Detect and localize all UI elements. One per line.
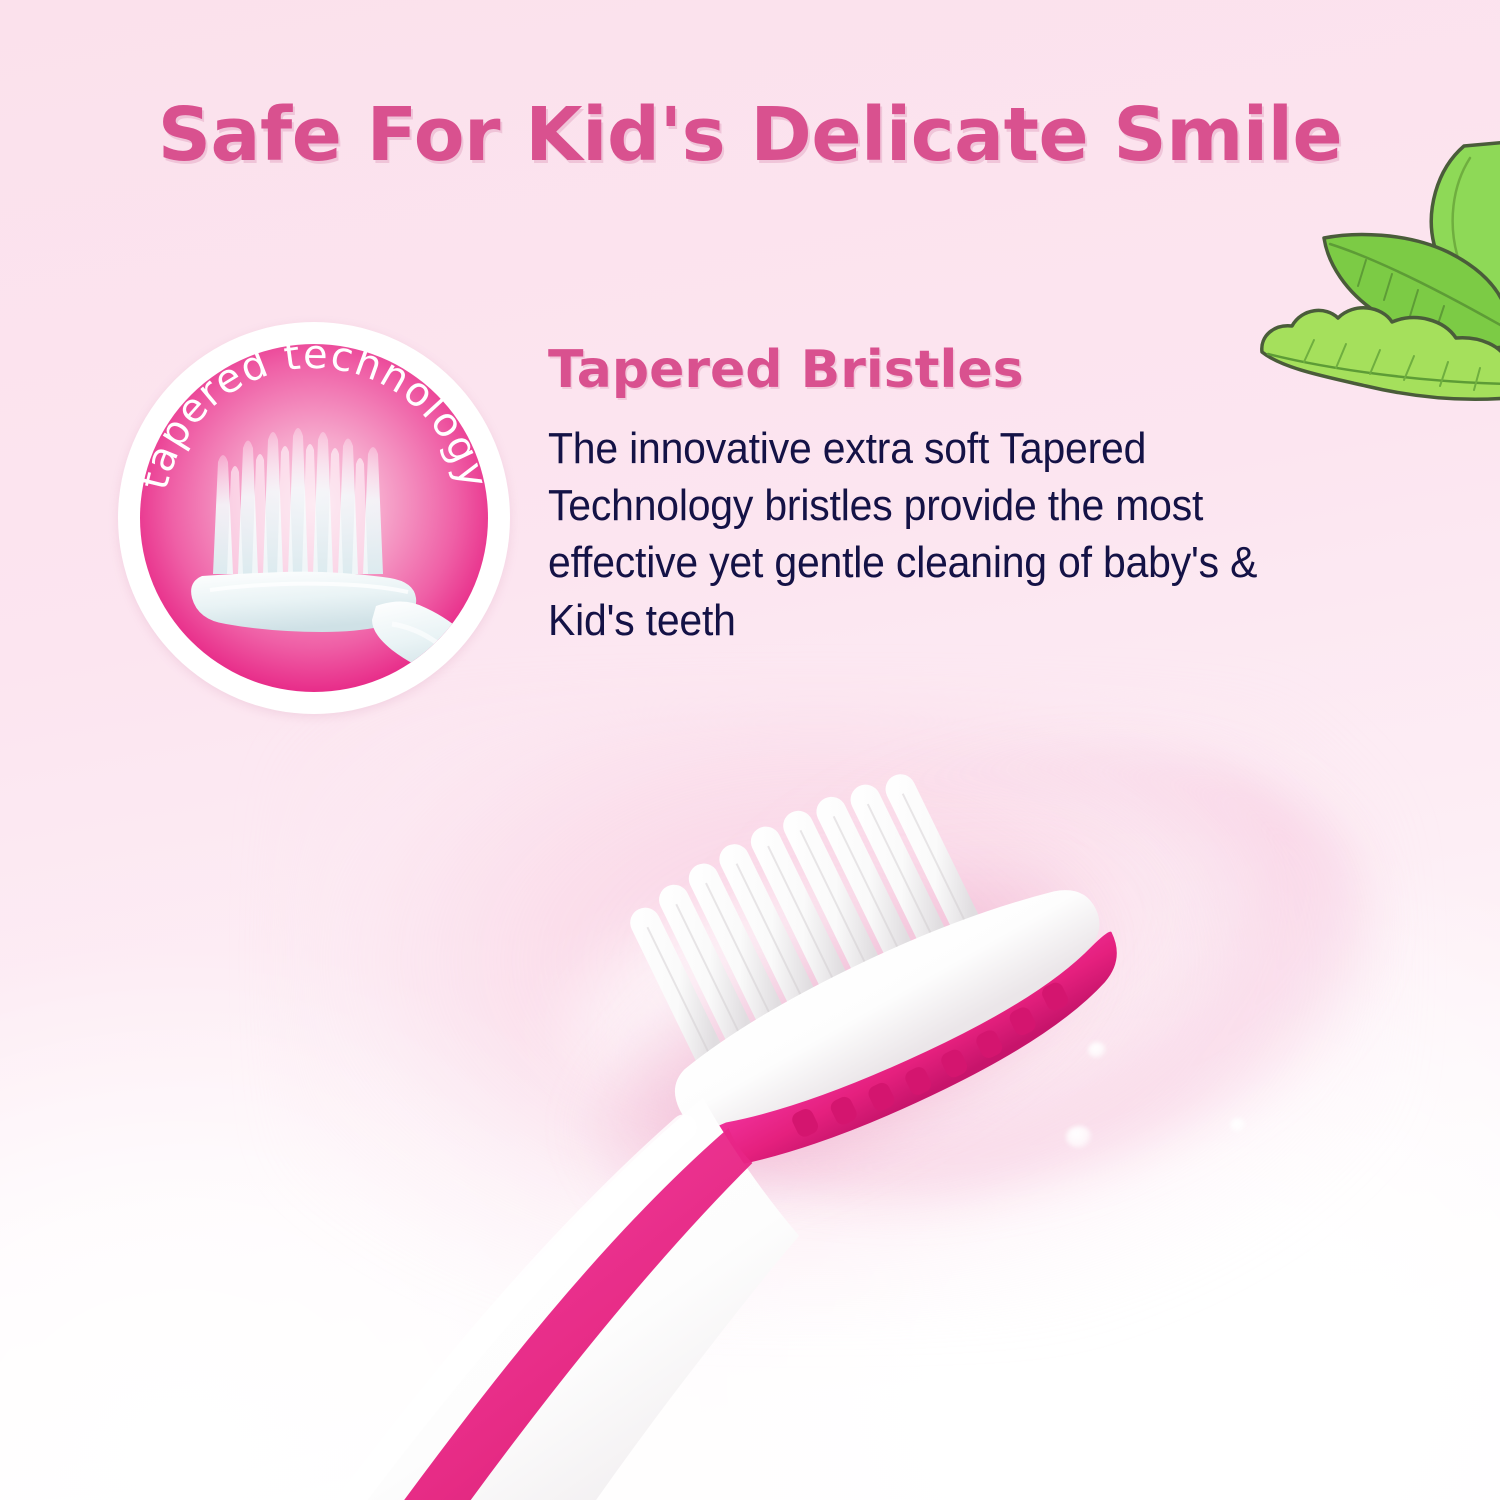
tapered-technology-badge: tapered technology	[118, 322, 510, 714]
feature-description: The innovative extra soft Tapered Techno…	[548, 420, 1301, 649]
toothbrush-head-icon	[140, 344, 488, 692]
feature-block: Tapered Bristles The innovative extra so…	[548, 344, 1378, 649]
feature-title: Tapered Bristles	[548, 344, 1378, 396]
badge-inner-disc	[140, 344, 488, 692]
toothbrush-illustration	[0, 700, 1500, 1500]
marketing-banner: Safe For Kid's Delicate Smile	[0, 0, 1500, 1500]
product-image	[0, 700, 1500, 1500]
